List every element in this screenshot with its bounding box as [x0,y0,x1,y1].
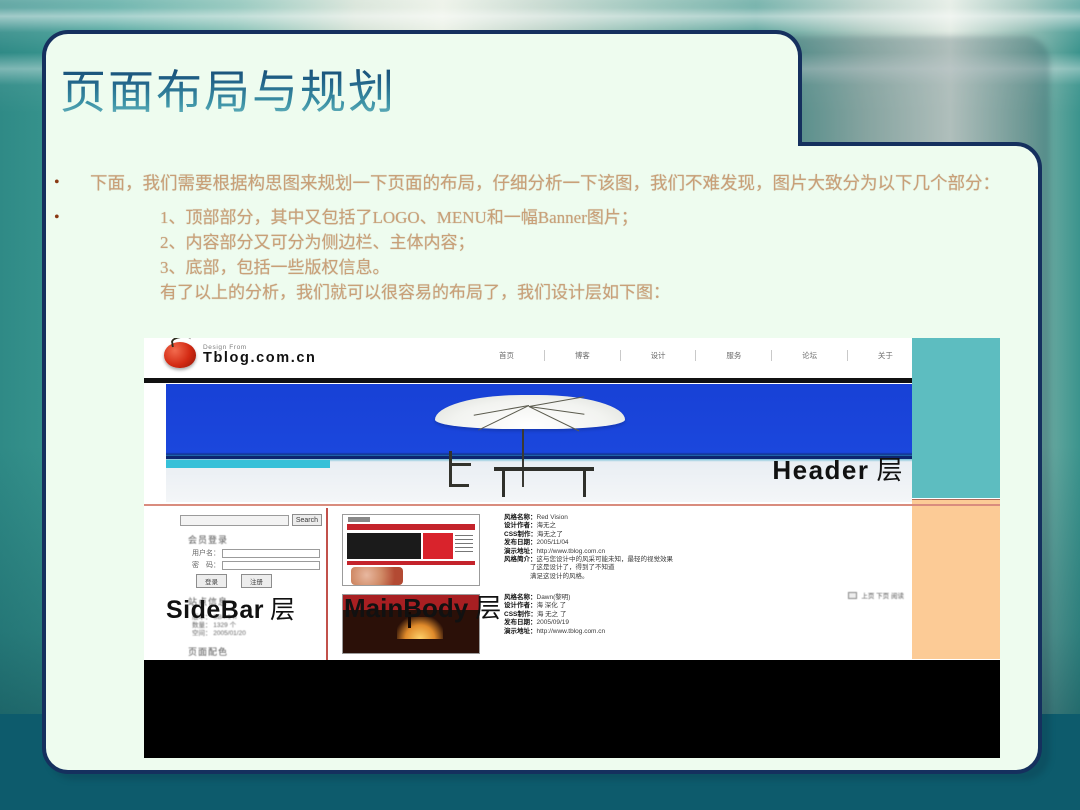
nav-divider [847,350,848,361]
mockup-sidebar: Search 会员登录 用户名： 密 码： 登录 注册 站点信息 版本： SB4… [166,508,328,664]
meta-value: 海无之 [537,522,557,529]
meta-value: 海无之了 [537,531,563,538]
sidebar-layer-label-suffix: 层 [270,597,296,624]
search-input[interactable] [180,515,289,526]
numbered-list-block: • 1、顶部部分，其中又包括了LOGO、MENU和一幅Banner图片； 2、内… [46,205,1042,305]
header-layer-label-text: Header [772,455,869,485]
mockup-mainbody: 风格名称：Red Vision 设计作者：海无之 CSS制作：海无之了 发布日期… [334,508,912,654]
page-title: 页面布局与规划 [60,56,396,122]
meta-value: 2005/11/04 [537,539,569,546]
list-item[interactable]: 风格名称：Red Vision 设计作者：海无之 CSS制作：海无之了 发布日期… [342,514,912,586]
mockup-nav: 首页 博客 设计 服务 论坛 关于 [496,350,896,361]
site-logo[interactable]: Design From Tblog.com.cn [164,342,316,368]
meta-label: 设计作者： [504,602,537,609]
mainbody-layer-label-suffix: 层 [475,594,501,623]
bullet-text: 下面，我们需要根据构思图来规划一下页面的布局，仔细分析一下该图，我们不难发现，图… [76,170,1042,196]
nav-divider [620,350,621,361]
nav-item-home[interactable]: 首页 [496,350,517,361]
bullet-item: • 下面，我们需要根据构思图来规划一下页面的布局，仔细分析一下该图，我们不难发现… [46,170,1042,196]
nav-divider [771,350,772,361]
meta-label: 风格简介： [504,556,537,563]
slide-content: • 下面，我们需要根据构思图来规划一下页面的布局，仔细分析一下该图，我们不难发现… [46,170,1042,305]
mockup-topbar: Design From Tblog.com.cn 首页 博客 设计 服务 论坛 … [144,338,912,378]
username-input[interactable] [222,549,320,558]
mockup-topbar-rule [144,378,912,383]
nav-item-forum[interactable]: 论坛 [799,350,820,361]
meta-value: Red Vision [537,514,568,521]
tomato-icon [164,342,196,368]
meta-value[interactable]: http://www.tblog.com.cn [537,548,606,555]
header-layer-label-suffix: 层 [876,456,904,485]
meta-extra-line: 满足这设计的风格。 [504,573,673,581]
username-row[interactable]: 用户名： [192,548,320,558]
list-item: 3、底部，包括一些版权信息。 [160,255,1042,280]
beach-table-icon [494,467,594,471]
meta-label: 演示地址： [504,628,537,635]
site-info-line: 空间： 2005/01/20 [192,630,326,638]
meta-value: 2005/09/19 [537,619,570,626]
pagination[interactable]: 上页 下页 阅读 [848,590,904,600]
lagoon-water [166,460,330,468]
meta-label: 发布日期： [504,539,537,546]
mainbody-layer-label: MainBody层 [344,588,501,625]
layout-mockup-image: Design From Tblog.com.cn 首页 博客 设计 服务 论坛 … [144,338,1000,758]
login-buttons: 登录 注册 [196,574,326,588]
umbrella-spokes [464,396,594,414]
list-item: 2、内容部分又可分为侧边栏、主体内容； [160,230,1042,255]
meta-label: 演示地址： [504,548,537,555]
bullet-marker: • [46,205,76,231]
footer-layer-block [144,660,1000,758]
meta-value: 这与您设计中的风采可能未知，最轻的视觉效果 [537,556,674,563]
mockup-section-divider [144,504,1000,506]
sidebar-search[interactable]: Search [180,514,322,526]
meta-label: 发布日期： [504,619,537,626]
meta-label: 风格名称： [504,594,537,601]
sidebar-layer-label-text: SideBar [166,596,264,624]
nav-item-design[interactable]: 设计 [648,350,669,361]
meta-label: CSS制作： [504,611,537,618]
nav-divider [544,350,545,361]
slide-frame-seam [48,138,796,150]
username-label: 用户名： [192,548,222,558]
nav-item-service[interactable]: 服务 [723,350,744,361]
register-button[interactable]: 注册 [241,574,272,588]
article-meta: 风格名称：Dawn(黎明) 设计作者：海 深化 了 CSS制作：海 无之 了 发… [504,594,605,654]
meta-label: 设计作者： [504,522,537,529]
nav-divider [695,350,696,361]
search-button[interactable]: Search [292,514,322,526]
palette-heading: 页面配色 [188,645,326,658]
header-layer-label: Header层 [772,450,904,487]
bullet-marker: • [46,170,76,196]
header-layer-color-block [912,338,1000,498]
meta-label: 风格名称： [504,514,537,521]
red-vision-thumbnail[interactable] [342,514,480,586]
meta-value: 海 深化 了 [537,602,567,609]
pager-icon[interactable] [848,592,857,599]
login-button[interactable]: 登录 [196,574,227,588]
nav-item-about[interactable]: 关于 [875,350,896,361]
logo-wordmark: Tblog.com.cn [203,351,316,366]
list-item: 1、顶部部分，其中又包括了LOGO、MENU和一幅Banner图片； [160,205,1042,230]
meta-value: 海 无之 了 [537,611,567,618]
password-input[interactable] [222,561,320,570]
sidebar-layer-color-block [912,499,1000,659]
article-meta: 风格名称：Red Vision 设计作者：海无之 CSS制作：海无之了 发布日期… [504,514,673,586]
password-label: 密 码： [192,560,222,570]
meta-label: CSS制作： [504,531,537,538]
beach-chair-icon [449,451,469,487]
meta-value: Dawn(黎明) [537,594,571,601]
password-row[interactable]: 密 码： [192,560,320,570]
numbered-list: 1、顶部部分，其中又包括了LOGO、MENU和一幅Banner图片； 2、内容部… [76,205,1042,305]
nav-item-blog[interactable]: 博客 [572,350,593,361]
sidebar-layer-label: SideBar层 [166,590,296,626]
mainbody-layer-label-text: MainBody [344,593,468,623]
login-heading: 会员登录 [188,533,326,546]
meta-extra-line: 了这是设计了，得到了不知道 [504,564,673,572]
meta-value[interactable]: http://www.tblog.com.cn [537,628,606,635]
pager-text[interactable]: 上页 下页 阅读 [861,590,904,600]
list-item: 有了以上的分析，我们就可以很容易的布局了，我们设计层如下图： [160,280,1042,305]
